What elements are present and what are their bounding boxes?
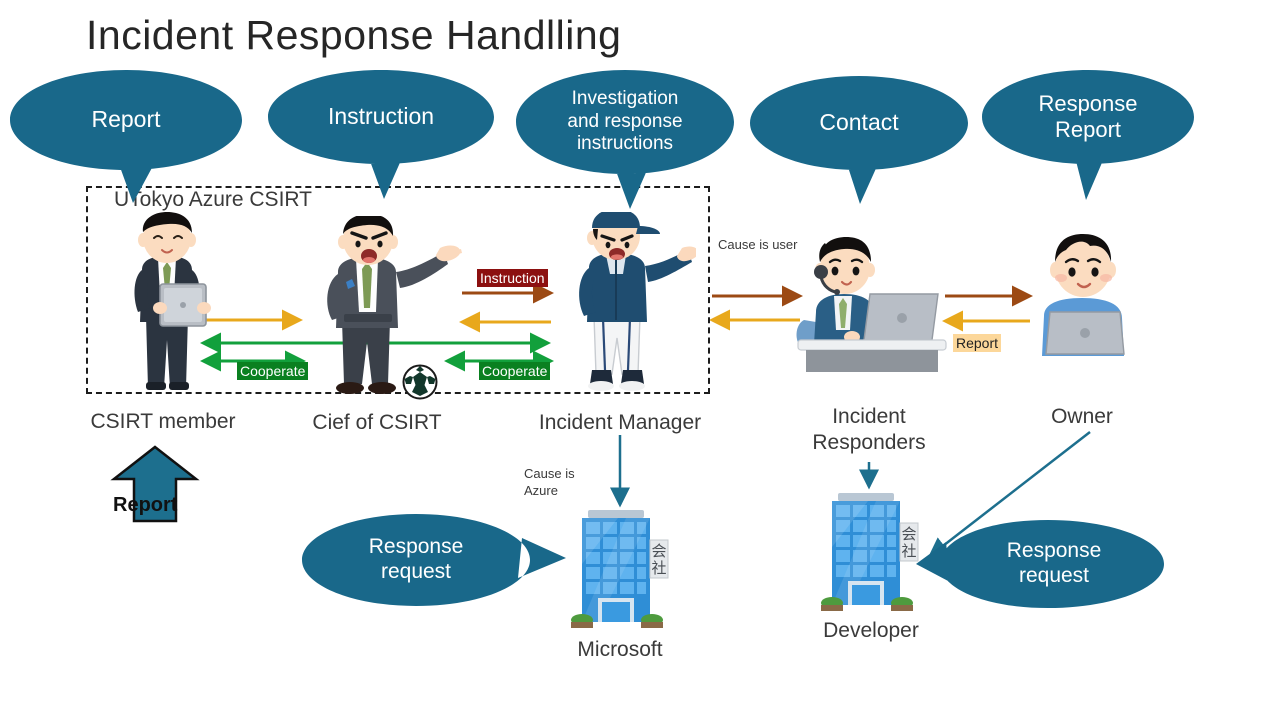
bubble-report[interactable]: Report <box>8 70 244 170</box>
svg-text:社: 社 <box>901 542 916 560</box>
figure-incident-manager <box>566 212 696 394</box>
note-cause-is-azure: Cause is Azure <box>524 466 575 500</box>
label-owner: Owner <box>1012 404 1152 430</box>
label-csirt-member: CSIRT member <box>78 409 248 435</box>
building-microsoft: 会 社 <box>568 504 674 632</box>
label-incident-responders: Incident Responders <box>789 404 949 455</box>
bubble-response-report-label: Response Report <box>980 91 1196 143</box>
label-microsoft: Microsoft <box>545 638 695 662</box>
bubble-contact[interactable]: Contact <box>748 76 970 170</box>
label-chief-of-csirt: Cief of CSIRT <box>292 410 462 436</box>
figure-owner <box>1028 232 1140 372</box>
badge-cooperate-right: Cooperate <box>479 362 550 380</box>
bubble-response-report[interactable]: Response Report <box>980 70 1196 164</box>
figure-incident-responders <box>790 234 948 374</box>
bubble-instruction-shape <box>266 70 496 200</box>
figure-csirt-member <box>112 212 222 394</box>
bubble-instruction[interactable]: Instruction <box>266 70 496 164</box>
badge-cooperate-left: Cooperate <box>237 362 308 380</box>
bubble-contact-shape <box>748 76 970 206</box>
building-sign-text: 会 <box>651 542 666 560</box>
label-report-bold: Report <box>113 494 177 517</box>
svg-text:社: 社 <box>651 559 666 577</box>
badge-report: Report <box>953 334 1001 352</box>
bubble-instruction-label: Instruction <box>266 103 496 130</box>
bubble-response-request-developer[interactable]: Response request <box>916 520 1166 608</box>
bubble-response-request-ms-label: Response request <box>300 535 532 585</box>
bubble-investigation-label: Investigation and response instructions <box>514 88 736 155</box>
soccer-ball-icon <box>402 364 438 400</box>
building-developer: 会 社 <box>818 487 924 615</box>
diagram-canvas: Incident Response Handlling <box>0 0 1280 720</box>
figure-chief-of-csirt <box>312 216 462 396</box>
badge-instruction: Instruction <box>477 269 548 287</box>
bubble-report-shape <box>8 70 244 205</box>
bubble-response-request-dev-label: Response request <box>942 539 1166 589</box>
bubble-contact-label: Contact <box>748 109 970 136</box>
note-cause-is-user: Cause is user <box>718 237 797 254</box>
bubble-report-label: Report <box>8 106 244 133</box>
label-incident-manager: Incident Manager <box>520 410 720 436</box>
bubble-response-request-microsoft[interactable]: Response request <box>300 514 532 606</box>
svg-text:会: 会 <box>901 525 916 543</box>
bubble-investigation[interactable]: Investigation and response instructions <box>514 70 736 174</box>
label-developer: Developer <box>796 619 946 643</box>
